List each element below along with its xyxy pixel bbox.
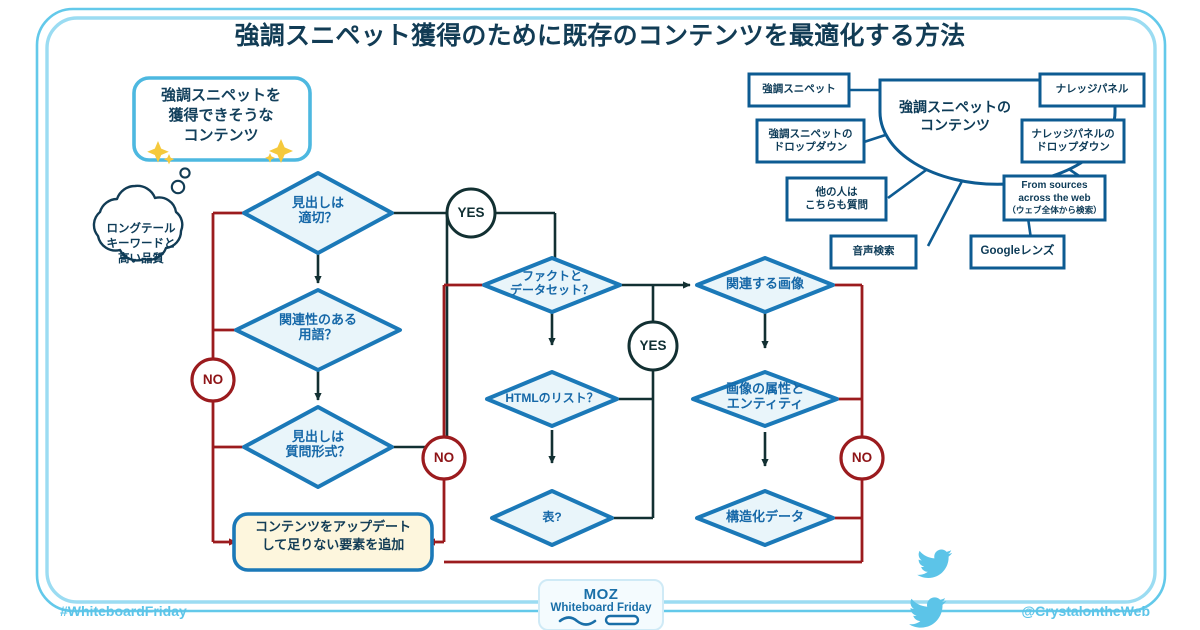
- node-label-n8[interactable]: 画像の属性と エンティティ: [700, 381, 830, 412]
- mindmap-label-m6[interactable]: From sources across the web （ウェブ全体から検索）: [1004, 180, 1105, 216]
- badge-label-no-1: NO: [190, 372, 236, 388]
- node-label-n5[interactable]: HTMLのリスト？: [492, 391, 612, 405]
- mindmap-label-m8[interactable]: ナレッジパネル: [1040, 83, 1144, 96]
- hashtag-label: #WhiteboardFriday: [60, 603, 320, 620]
- mindmap-label-m4[interactable]: 音声検索: [831, 245, 916, 258]
- bubble-line-1: 強調スニペットを: [140, 86, 302, 106]
- badge-label-yes-2: YES: [628, 338, 678, 354]
- mindmap-label-m2[interactable]: 強調スニペットの ドロップダウン: [757, 128, 864, 154]
- node-label-n3[interactable]: 見出しは 質問形式？: [248, 429, 388, 460]
- action-box-text[interactable]: コンテンツをアップデート して足りない要素を追加: [238, 518, 428, 553]
- mindmap-center-label: 強調スニペットの コンテンツ: [880, 98, 1030, 134]
- mindmap-label-m7[interactable]: ナレッジパネルの ドロップダウン: [1022, 128, 1124, 154]
- node-label-n6[interactable]: 表?: [502, 510, 602, 524]
- page-title: 強調スニペット獲得のために既存のコンテンツを最適化する方法: [0, 22, 1200, 52]
- node-label-n4[interactable]: ファクトと データセット？: [492, 269, 612, 297]
- node-label-n9[interactable]: 構造化データ: [700, 509, 830, 524]
- thought-bubble-text: 強調スニペットを 獲得できそうな コンテンツ: [140, 86, 302, 145]
- node-label-n2[interactable]: 関連性のある 用語？: [243, 312, 393, 343]
- bubble-line-3: コンテンツ: [140, 126, 302, 146]
- mindmap-label-m3[interactable]: 他の人は こちらも質問: [787, 186, 886, 212]
- diagram-text-layer: 強調スニペット獲得のために既存のコンテンツを最適化する方法 強調スニペットを 獲…: [0, 0, 1200, 630]
- action-line-2: して足りない要素を追加: [238, 536, 428, 554]
- whiteboard-canvas: 強調スニペット獲得のために既存のコンテンツを最適化する方法 強調スニペットを 獲…: [0, 0, 1200, 630]
- moz-tagline: Whiteboard Friday: [540, 602, 662, 616]
- cloud-line-1: ロングテール: [82, 222, 200, 237]
- badge-label-no-2: NO: [421, 450, 467, 466]
- node-label-n7[interactable]: 関連する画像: [700, 276, 830, 291]
- bubble-line-2: 獲得できそうな: [140, 106, 302, 126]
- cloud-line-3: 高い品質: [82, 252, 200, 267]
- mindmap-label-m5[interactable]: Googleレンズ: [971, 244, 1064, 258]
- cloud-text: ロングテール キーワードと 高い品質: [82, 222, 200, 267]
- badge-label-yes-1: YES: [446, 205, 496, 221]
- cloud-line-2: キーワードと: [82, 237, 200, 252]
- action-line-1: コンテンツをアップデート: [238, 518, 428, 536]
- node-label-n1[interactable]: 見出しは 適切？: [248, 195, 388, 226]
- twitter-handle-label: @CrystalontheWeb: [900, 603, 1150, 620]
- badge-label-no-3: NO: [839, 450, 885, 466]
- mindmap-label-m1[interactable]: 強調スニペット: [749, 83, 849, 96]
